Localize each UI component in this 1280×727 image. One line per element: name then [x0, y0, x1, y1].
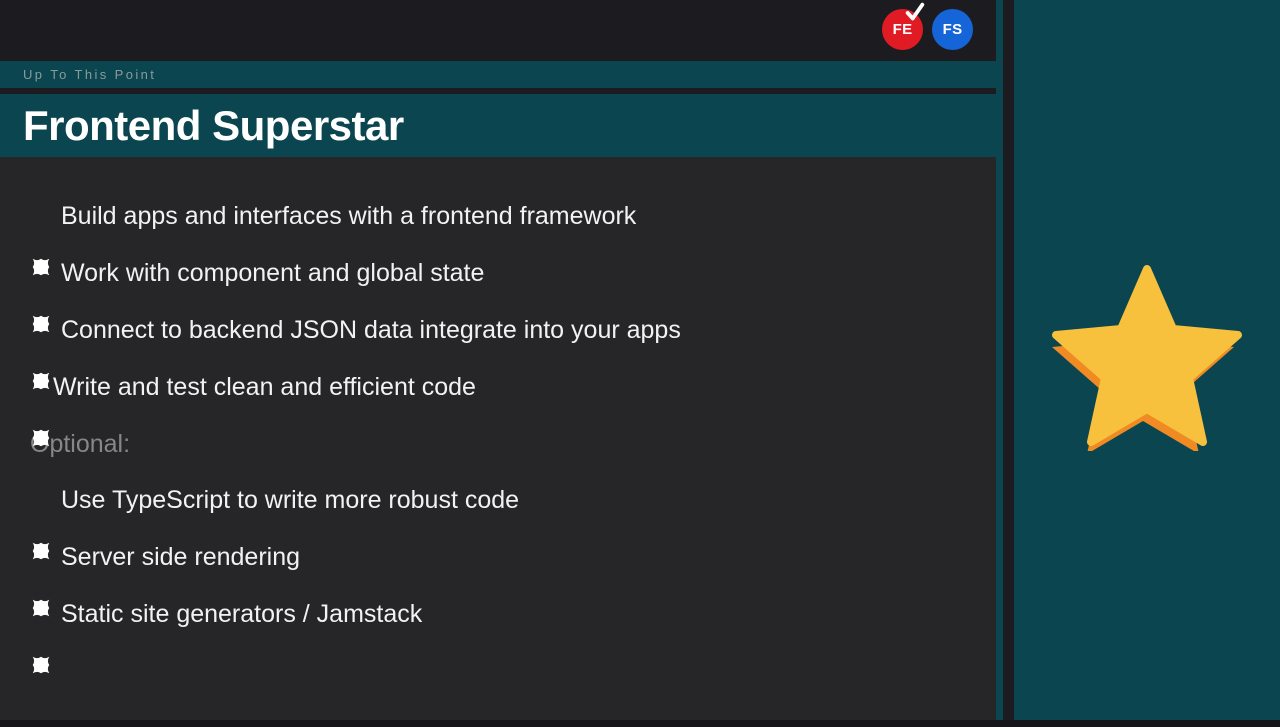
list-item: Static site generators / Jamstack — [30, 602, 970, 627]
badge-group: FE FS — [882, 9, 973, 50]
divider-accent — [996, 0, 1003, 720]
list-item-text: Server side rendering — [61, 545, 300, 570]
list-item-text: Build apps and interfaces with a fronten… — [61, 204, 636, 229]
bullet-list: Build apps and interfaces with a fronten… — [30, 204, 970, 659]
main-column: FE FS Up To This Point Frontend Supersta… — [0, 0, 996, 720]
slide-root: FE FS Up To This Point Frontend Supersta… — [0, 0, 1280, 720]
check-icon — [904, 1, 926, 23]
list-item: Server side rendering — [30, 545, 970, 570]
page-title: Frontend Superstar — [23, 105, 404, 147]
bullet-glyph-icon — [30, 263, 52, 285]
frontend-badge-label: FE — [893, 22, 913, 37]
bullet-glyph-icon — [30, 206, 52, 228]
list-item-text: Work with component and global state — [61, 261, 484, 286]
star-graphic — [1014, 238, 1280, 468]
eyebrow-band: Up To This Point — [0, 61, 996, 88]
title-band: Frontend Superstar — [0, 94, 996, 157]
list-item-text: Use TypeScript to write more robust code — [61, 488, 519, 513]
frontend-badge[interactable]: FE — [882, 9, 923, 50]
fullstack-badge[interactable]: FS — [932, 9, 973, 50]
optional-label: Optional: — [30, 432, 970, 457]
star-icon — [1047, 255, 1247, 451]
content-panel: Build apps and interfaces with a fronten… — [0, 157, 996, 720]
list-item-text: Static site generators / Jamstack — [61, 602, 422, 627]
top-bar: FE FS — [0, 0, 996, 61]
list-item: Build apps and interfaces with a fronten… — [30, 204, 970, 229]
list-item: Connect to backend JSON data integrate i… — [30, 318, 970, 343]
list-item: Write and test clean and efficient code — [30, 375, 970, 400]
sidebar-panel — [1014, 0, 1280, 720]
list-item-text: Write and test clean and efficient code — [53, 375, 476, 400]
list-item: Use TypeScript to write more robust code — [30, 488, 970, 513]
bullet-glyph-icon — [30, 604, 52, 626]
bullet-glyph-icon — [30, 320, 52, 342]
bullet-glyph-icon — [30, 490, 52, 512]
bullet-glyph-icon — [30, 547, 52, 569]
divider-gap — [1003, 0, 1014, 720]
fullstack-badge-label: FS — [943, 22, 963, 37]
eyebrow-label: Up To This Point — [23, 68, 156, 81]
list-item: Work with component and global state — [30, 261, 970, 286]
list-item-text: Connect to backend JSON data integrate i… — [61, 318, 681, 343]
bullet-glyph-icon — [30, 377, 52, 399]
